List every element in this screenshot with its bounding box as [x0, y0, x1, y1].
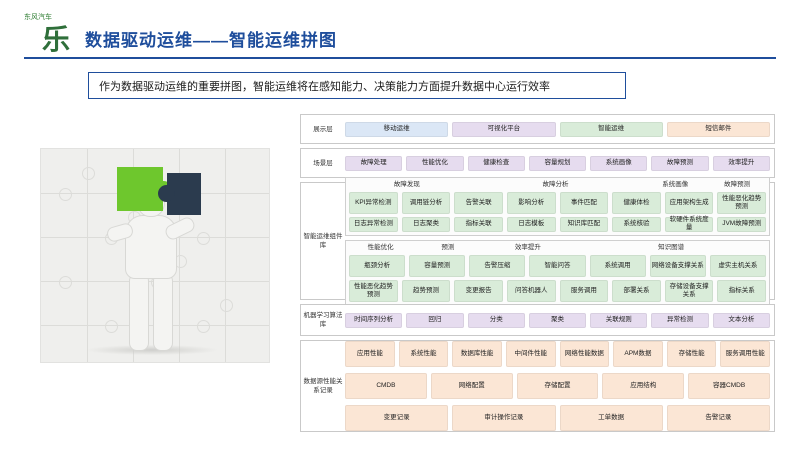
node-performance-optimization[interactable]: 性能优化 [406, 156, 463, 171]
band-label: 展示层 [301, 115, 345, 143]
company-logo: 东风汽车 乐 [24, 14, 82, 50]
node-performance-degradation-prediction[interactable]: 性能恶化趋势预测 [717, 192, 766, 214]
node-storage-device-support-relation[interactable]: 存储设备支撑关系 [665, 280, 714, 302]
node-container-cmdb[interactable]: 容器CMDB [688, 373, 770, 399]
node-metric-relation[interactable]: 指标关系 [717, 280, 766, 302]
puzzle-piece-dark [167, 173, 201, 215]
node-app-architecture-generation[interactable]: 应用架构生成 [665, 192, 714, 214]
band-data-source: 数据源性能关系记录 应用性能 系统性能 数据库性能 中间件性能 网络性能数据 A… [300, 340, 775, 432]
node-classification[interactable]: 分类 [468, 313, 525, 328]
node-virtual-physical-host-relation[interactable]: 虚实主机关系 [710, 255, 766, 277]
node-event-matching[interactable]: 事件匹配 [560, 192, 609, 214]
header-divider [24, 57, 776, 59]
node-ticket-data[interactable]: 工单数据 [560, 405, 663, 431]
node-audit-operation-record[interactable]: 审计操作记录 [452, 405, 555, 431]
node-regression[interactable]: 回归 [406, 313, 463, 328]
band-scenario-layer: 场景层 故障处理 性能优化 健康检查 容量规划 系统画像 故障预测 效率提升 [300, 148, 775, 178]
node-service-invocation[interactable]: 服务调用 [560, 280, 609, 302]
node-jvm-fault-prediction[interactable]: JVM故障预测 [717, 217, 766, 232]
architecture-diagram: 展示层 移动运维 可视化平台 智能运维 短信邮件 场景层 故障处理 性能优化 健… [300, 114, 775, 438]
node-anomaly-detection[interactable]: 异常检测 [651, 313, 708, 328]
group-title-system-profile: 系统画像 [646, 181, 704, 189]
node-bottleneck-analysis[interactable]: 瓶颈分析 [349, 255, 405, 277]
node-apm-data[interactable]: APM数据 [613, 341, 663, 367]
node-trend-prediction[interactable]: 趋势预测 [402, 280, 451, 302]
node-app-performance[interactable]: 应用性能 [345, 341, 395, 367]
node-app-structure[interactable]: 应用结构 [602, 373, 684, 399]
node-sms-email[interactable]: 短信邮件 [667, 122, 770, 137]
node-alarm-correlation[interactable]: 告警关联 [454, 192, 503, 214]
node-database-performance[interactable]: 数据库性能 [452, 341, 502, 367]
node-service-call-performance[interactable]: 服务调用性能 [720, 341, 770, 367]
node-knowledge-base-matching[interactable]: 知识库匹配 [560, 217, 609, 232]
node-cmdb[interactable]: CMDB [345, 373, 427, 399]
group-title-fault-analysis: 故障分析 [469, 181, 643, 189]
node-health-exam[interactable]: 健康体检 [612, 192, 661, 214]
node-health-check[interactable]: 健康检查 [468, 156, 525, 171]
node-clustering[interactable]: 聚类 [529, 313, 586, 328]
node-storage-performance[interactable]: 存储性能 [667, 341, 717, 367]
group-title-fault-prediction: 故障预测 [708, 181, 766, 189]
band-component-library: 智能运维组件库 故障发现 故障分析 系统画像 故障预测 KPI异常检测 调用链分… [300, 182, 775, 300]
node-system-performance[interactable]: 系统性能 [399, 341, 449, 367]
node-change-record[interactable]: 变更记录 [345, 405, 448, 431]
node-middleware-performance[interactable]: 中间件性能 [506, 341, 556, 367]
page-title: 数据驱动运维——智能运维拼图 [85, 26, 337, 51]
band-ml-algorithm-library: 机器学习算法库 时间序列分析 回归 分类 聚类 关联规则 异常检测 文本分析 [300, 304, 775, 336]
node-software-hardware-metrics[interactable]: 软硬件系统度量 [665, 217, 714, 232]
node-system-invocation[interactable]: 系统调用 [590, 255, 646, 277]
node-network-config[interactable]: 网络配置 [431, 373, 513, 399]
node-visualization-platform[interactable]: 可视化平台 [452, 122, 555, 137]
node-qa-robot[interactable]: 问答机器人 [507, 280, 556, 302]
node-smart-qa[interactable]: 智能问答 [529, 255, 585, 277]
node-log-anomaly-detection[interactable]: 日志异常检测 [349, 217, 398, 232]
node-performance-trend-prediction[interactable]: 性能恶化趋势预测 [349, 280, 398, 302]
node-change-report[interactable]: 变更报告 [454, 280, 503, 302]
group-title-prediction: 预测 [416, 244, 479, 252]
node-mobile-ops[interactable]: 移动运维 [345, 122, 448, 137]
band-label: 场景层 [301, 149, 345, 177]
group-title-fault-discovery: 故障发现 [349, 181, 465, 189]
node-fault-handling[interactable]: 故障处理 [345, 156, 402, 171]
node-intelligent-ops[interactable]: 智能运维 [560, 122, 663, 137]
component-group-a: 故障发现 故障分析 系统画像 故障预测 KPI异常检测 调用链分析 告警关联 影… [345, 177, 770, 236]
node-metric-correlation[interactable]: 指标关联 [454, 217, 503, 232]
node-fault-prediction[interactable]: 故障预测 [651, 156, 708, 171]
node-system-profile[interactable]: 系统画像 [590, 156, 647, 171]
node-efficiency-improvement[interactable]: 效率提升 [713, 156, 770, 171]
group-title-knowledge-graph: 知识图谱 [576, 244, 766, 252]
node-association-rules[interactable]: 关联规则 [590, 313, 647, 328]
node-system-verification[interactable]: 系统核验 [612, 217, 661, 232]
node-capacity-prediction[interactable]: 容量预测 [409, 255, 465, 277]
group-title-efficiency: 效率提升 [484, 244, 573, 252]
puzzle-illustration [40, 148, 270, 363]
node-capacity-planning[interactable]: 容量规划 [529, 156, 586, 171]
band-label: 智能运维组件库 [301, 183, 345, 299]
band-label: 数据源性能关系记录 [301, 341, 345, 431]
band-presentation-layer: 展示层 移动运维 可视化平台 智能运维 短信邮件 [300, 114, 775, 144]
node-network-device-support-relation[interactable]: 网络设备支撑关系 [650, 255, 706, 277]
node-alarm-record[interactable]: 告警记录 [667, 405, 770, 431]
node-deployment-relation[interactable]: 部署关系 [612, 280, 661, 302]
node-log-clustering[interactable]: 日志聚类 [402, 217, 451, 232]
node-text-analysis[interactable]: 文本分析 [713, 313, 770, 328]
node-alarm-compression[interactable]: 告警压缩 [469, 255, 525, 277]
node-network-performance-data[interactable]: 网络性能数据 [560, 341, 610, 367]
node-time-series-analysis[interactable]: 时间序列分析 [345, 313, 402, 328]
node-storage-config[interactable]: 存储配置 [517, 373, 599, 399]
node-kpi-anomaly-detection[interactable]: KPI异常检测 [349, 192, 398, 214]
group-title-performance-optimization: 性能优化 [349, 244, 412, 252]
component-group-b: 性能优化 预测 效率提升 知识图谱 瓶颈分析 容量预测 告警压缩 智能问答 系统… [345, 240, 770, 306]
node-call-chain-analysis[interactable]: 调用链分析 [402, 192, 451, 214]
puzzle-piece-green [117, 167, 163, 211]
logo-brush-mark: 乐 [42, 18, 70, 58]
subtitle-callout: 作为数据驱动运维的重要拼图，智能运维将在感知能力、决策能力方面提升数据中心运行效… [88, 72, 626, 99]
node-log-template[interactable]: 日志模板 [507, 217, 556, 232]
subtitle-text: 作为数据驱动运维的重要拼图，智能运维将在感知能力、决策能力方面提升数据中心运行效… [99, 78, 550, 94]
node-impact-analysis[interactable]: 影响分析 [507, 192, 556, 214]
band-label: 机器学习算法库 [301, 305, 345, 335]
